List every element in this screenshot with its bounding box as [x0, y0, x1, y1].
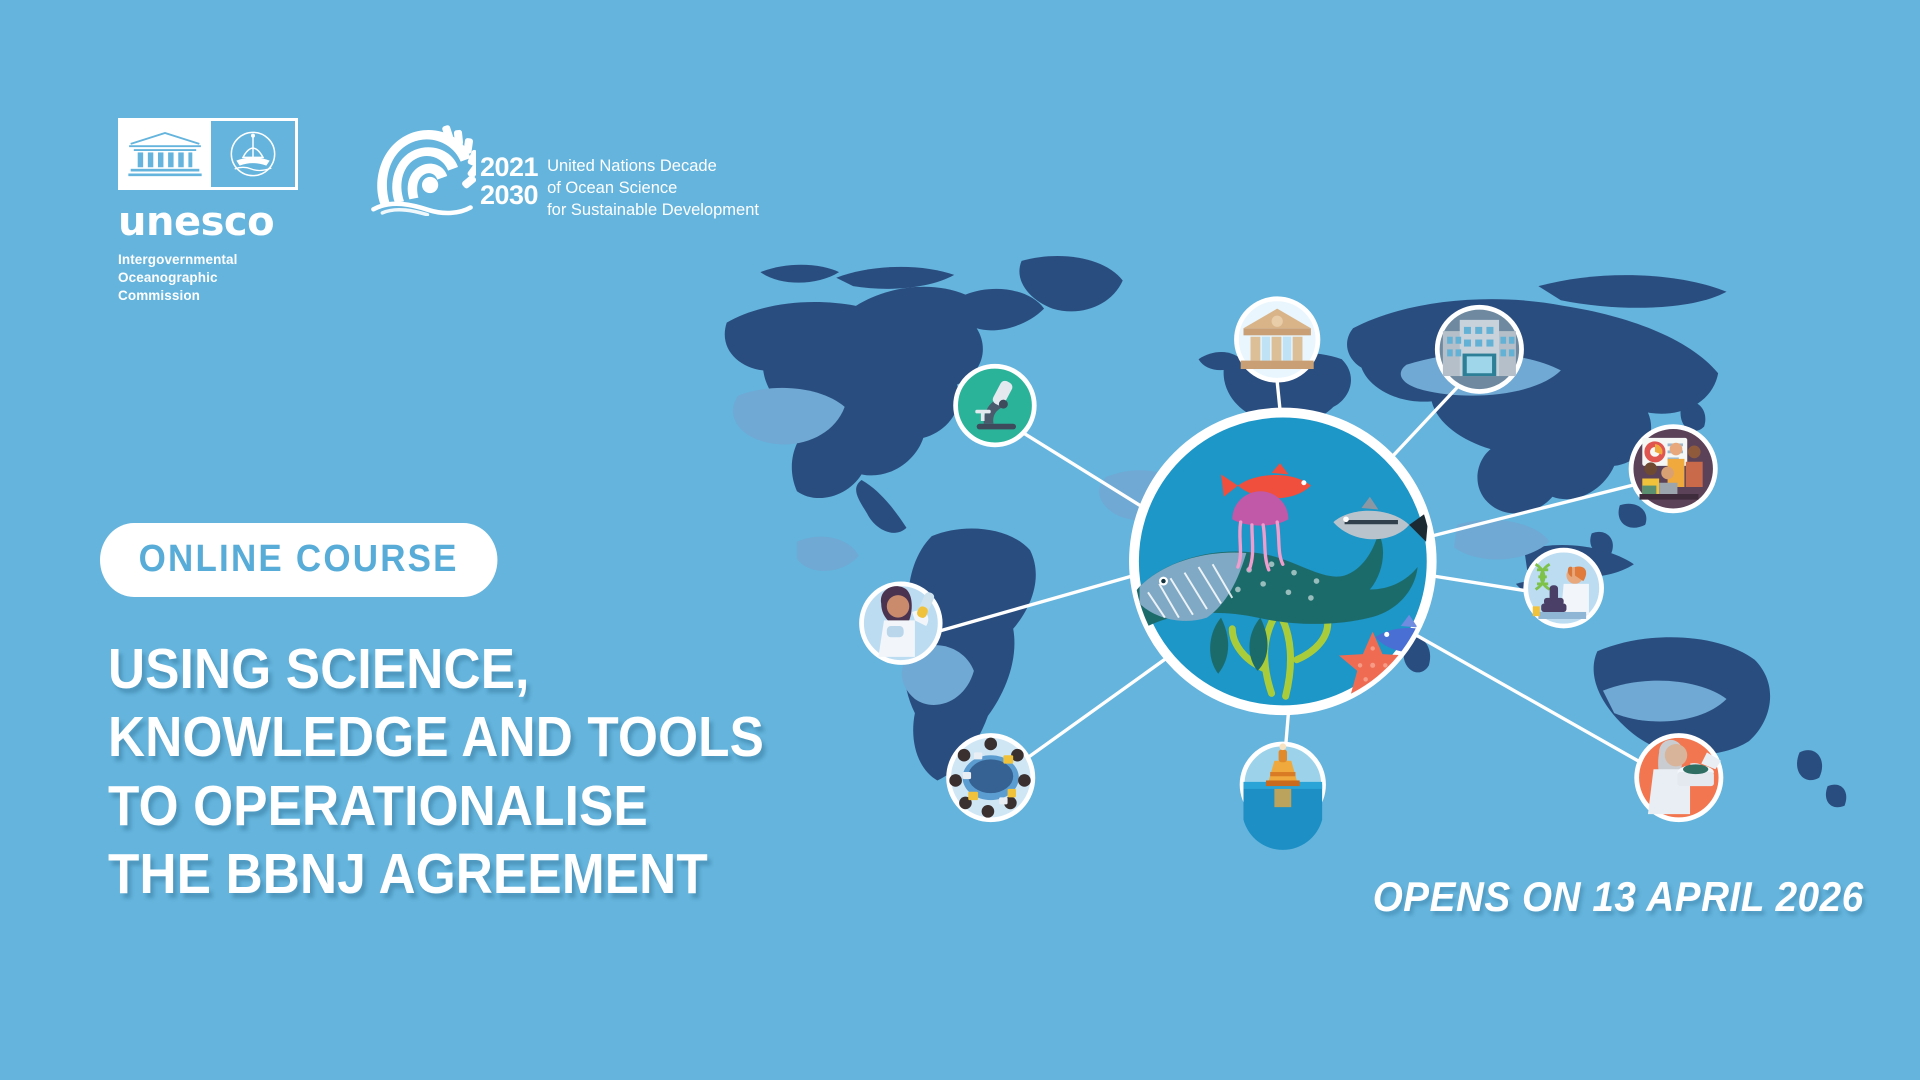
banner-canvas: unesco Intergovernmental Oceanographic C…: [0, 0, 1920, 1080]
node-field-scientist: [1637, 736, 1721, 820]
node-museum: [1236, 299, 1317, 380]
unesco-subtitle-line-1: Intergovernmental: [118, 251, 316, 269]
node-lab-researcher: [1526, 550, 1602, 626]
node-research-building: [1437, 307, 1521, 391]
ocean-decade-lines: United Nations Decade of Ocean Science f…: [547, 154, 759, 222]
online-course-badge: ONLINE COURSE: [100, 523, 497, 597]
unesco-emblem: [118, 118, 298, 190]
unesco-wordmark: unesco: [118, 202, 316, 242]
node-microscope: [956, 366, 1035, 445]
ocean-decade-wave-icon: [368, 122, 476, 214]
world-map-graphic: [640, 230, 1920, 890]
ocean-decade-years: 2021 2030: [480, 154, 538, 209]
unesco-subtitle: Intergovernmental Oceanographic Commissi…: [118, 251, 316, 304]
node-buoy: [1242, 743, 1323, 850]
ocean-decade-logo: 2021 2030 United Nations Decade of Ocean…: [368, 118, 759, 222]
decade-line-1: United Nations Decade: [547, 156, 759, 178]
ocean-decade-text: 2021 2030 United Nations Decade of Ocean…: [480, 154, 759, 222]
decade-line-2: of Ocean Science: [547, 178, 759, 200]
unesco-subtitle-line-2: Oceanographic: [118, 269, 316, 287]
node-test-tube-scientist: [862, 584, 941, 663]
unesco-logo: unesco Intergovernmental Oceanographic C…: [118, 118, 316, 304]
ioc-boat-icon: [208, 121, 295, 187]
unesco-subtitle-line-3: Commission: [118, 287, 316, 305]
decade-year-start: 2021: [480, 154, 538, 182]
decade-year-end: 2030: [480, 182, 538, 210]
node-round-table: [949, 736, 1033, 820]
unesco-temple-icon: [121, 121, 208, 187]
node-training-session: [1631, 427, 1715, 511]
decade-line-3: for Sustainable Development: [547, 200, 759, 222]
